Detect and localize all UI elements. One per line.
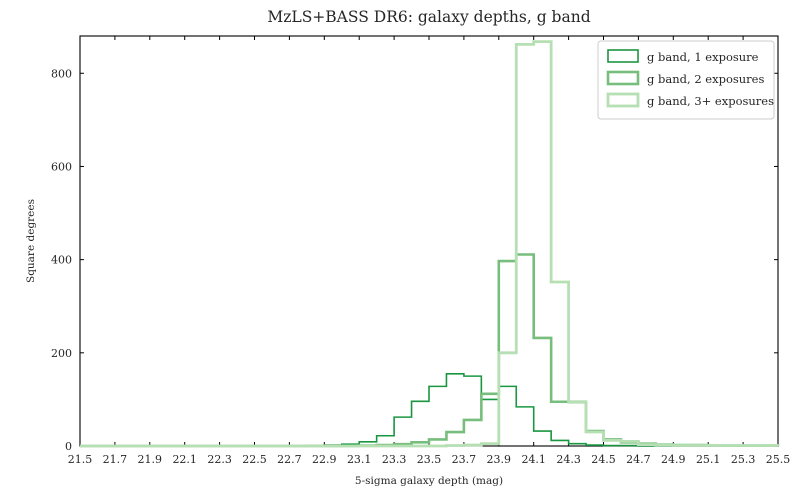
x-tick-label: 23.5: [417, 453, 442, 466]
y-tick-label: 0: [65, 440, 72, 453]
x-tick-label: 22.9: [312, 453, 337, 466]
chart-legend[interactable]: g band, 1 exposureg band, 2 exposuresg b…: [598, 41, 774, 119]
x-tick-label: 22.7: [277, 453, 302, 466]
x-tick-label: 23.1: [347, 453, 372, 466]
x-tick-label: 22.1: [172, 453, 197, 466]
x-tick-label: 24.7: [626, 453, 651, 466]
x-tick-label: 25.3: [731, 453, 756, 466]
y-axis-label: Square degrees: [25, 199, 37, 283]
y-axis-ticks: 0200400600800: [51, 67, 778, 453]
x-tick-label: 25.5: [766, 453, 791, 466]
x-tick-label: 24.9: [661, 453, 686, 466]
histogram-series-1: [80, 255, 778, 446]
y-tick-label: 200: [51, 347, 72, 360]
chart-figure: MzLS+BASS DR6: galaxy depths, g band 5-s…: [0, 0, 800, 500]
x-tick-label: 25.1: [696, 453, 721, 466]
chart-title: MzLS+BASS DR6: galaxy depths, g band: [267, 8, 590, 26]
histogram-series-0: [80, 374, 778, 446]
legend-label-0: g band, 1 exposure: [647, 50, 759, 64]
y-tick-label: 600: [51, 160, 72, 173]
x-tick-label: 21.9: [138, 453, 163, 466]
legend-label-2: g band, 3+ exposures: [647, 94, 774, 108]
x-tick-label: 23.3: [382, 453, 407, 466]
depth-histogram-chart: MzLS+BASS DR6: galaxy depths, g band 5-s…: [0, 0, 800, 500]
x-tick-label: 24.5: [591, 453, 616, 466]
x-tick-label: 24.3: [556, 453, 581, 466]
x-axis-label: 5-sigma galaxy depth (mag): [355, 475, 503, 487]
y-tick-label: 400: [51, 254, 72, 267]
x-tick-label: 24.1: [521, 453, 546, 466]
y-tick-label: 800: [51, 67, 72, 80]
x-tick-label: 23.9: [487, 453, 512, 466]
x-tick-label: 22.5: [242, 453, 267, 466]
x-tick-label: 23.7: [452, 453, 477, 466]
x-tick-label: 21.7: [103, 453, 128, 466]
x-tick-label: 21.5: [68, 453, 93, 466]
x-tick-label: 22.3: [207, 453, 232, 466]
legend-label-1: g band, 2 exposures: [647, 72, 764, 86]
